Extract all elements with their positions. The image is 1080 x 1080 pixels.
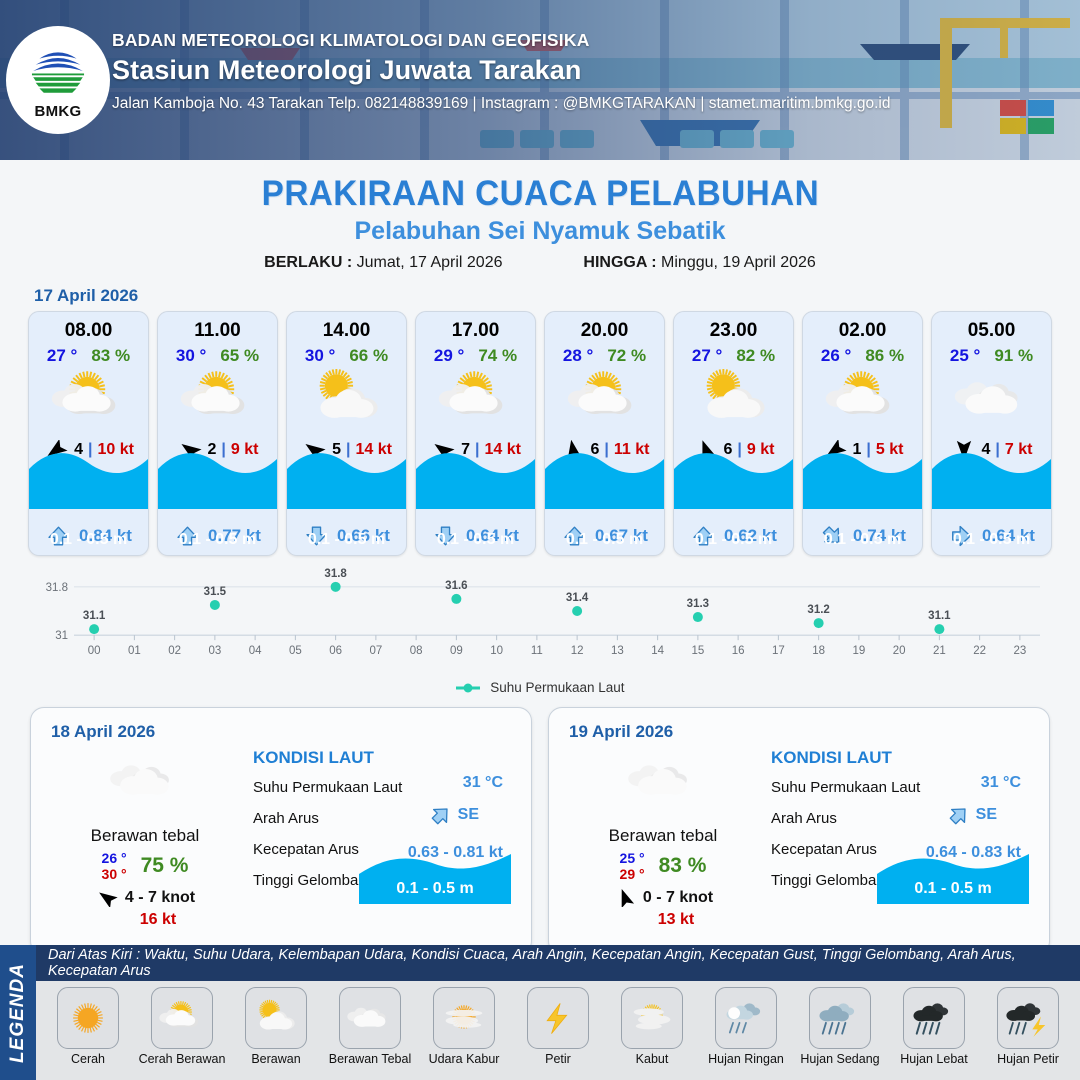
forecast-day-label: 17 April 2026 [34, 286, 1080, 306]
legend-item: Berawan [232, 987, 320, 1080]
svg-text:01: 01 [128, 645, 141, 657]
legend-item-label: Kabut [636, 1052, 669, 1066]
svg-text:00: 00 [88, 645, 101, 657]
forecast-time: 08.00 [29, 320, 148, 342]
panel-sea-conditions: KONDISI LAUT Suhu Permukaan Laut Arah Ar… [253, 748, 517, 896]
panel-current-direction-icon [946, 804, 972, 826]
legend-item: Kabut [608, 987, 696, 1080]
hingga-label: HINGGA : [583, 254, 656, 271]
svg-text:17: 17 [772, 645, 785, 657]
page-title: PRAKIRAAN CUACA PELABUHAN [261, 174, 818, 214]
forecast-card: 17.00 29 ° 74 % 7 | 14 kt [415, 311, 536, 556]
svg-text:31.5: 31.5 [204, 586, 227, 598]
legend-item: Cerah Berawan [138, 987, 226, 1080]
panel-temp-humidity: 26 ° 30 ° 75 % [45, 850, 245, 882]
forecast-time: 20.00 [545, 320, 664, 342]
legend-item: Hujan Sedang [796, 987, 884, 1080]
forecast-humidity: 86 % [865, 346, 904, 366]
forecast-card: 14.00 30 ° 66 % 5 | 14 kt 0.1 - 0.5 m [286, 311, 407, 556]
panel-humidity: 83 % [659, 854, 707, 878]
svg-text:08: 08 [410, 645, 423, 657]
svg-text:23: 23 [1013, 645, 1026, 657]
svg-text:07: 07 [369, 645, 382, 657]
legend-vertical-bar: LEGENDA [0, 945, 36, 1080]
wave-graphic [287, 447, 406, 509]
wave-graphic [932, 447, 1051, 509]
svg-text:12: 12 [571, 645, 584, 657]
legend-icon-thunderstorm [997, 987, 1059, 1049]
forecast-temperature: 29 ° [434, 346, 464, 366]
bmkg-logo-text: BMKG [34, 103, 81, 120]
legend-item-list: Cerah Cerah Berawan Berawan [36, 981, 1080, 1080]
panel-weather-icon [563, 750, 763, 812]
forecast-card: 02.00 26 ° 86 % 1 | 5 kt [802, 311, 923, 556]
daily-summary-panel: 19 April 2026 Berawan tebal 25 ° 29 ° 83… [548, 707, 1050, 955]
current-direction-value: SE [976, 806, 997, 824]
panel-temp-humidity: 25 ° 29 ° 83 % [563, 850, 763, 882]
chart-legend-marker-icon [455, 682, 481, 694]
chart-canvas: 31.8310001020304050607080910111213141516… [26, 568, 1054, 678]
forecast-humidity: 91 % [994, 346, 1033, 366]
panel-condition-label: Berawan tebal [563, 826, 763, 846]
sea-conditions-title: KONDISI LAUT [253, 748, 517, 768]
forecast-humidity: 72 % [607, 346, 646, 366]
svg-text:10: 10 [490, 645, 503, 657]
sea-row-label: Arah Arus [253, 810, 319, 827]
forecast-time: 05.00 [932, 320, 1051, 342]
berlaku-label: BERLAKU : [264, 254, 352, 271]
sea-surface-temperature-value: 31 °C [463, 774, 503, 792]
legend-icon-moderate-rain [809, 987, 871, 1049]
wave-graphic [803, 447, 922, 509]
weather-condition-icon [674, 368, 793, 430]
forecast-humidity: 83 % [91, 346, 130, 366]
svg-text:03: 03 [208, 645, 221, 657]
legend-item: Cerah [44, 987, 132, 1080]
svg-text:22: 22 [973, 645, 986, 657]
forecast-card: 08.00 27 ° 83 % 4 | 10 kt [28, 311, 149, 556]
forecast-temp-humidity: 30 ° 66 % [287, 346, 406, 366]
svg-text:31.8: 31.8 [46, 582, 68, 594]
svg-text:09: 09 [450, 645, 463, 657]
chart-legend: Suhu Permukaan Laut [0, 680, 1080, 695]
legend-icon-sunny [57, 987, 119, 1049]
legend-item-label: Hujan Lebat [900, 1052, 967, 1066]
legend-item-label: Cerah [71, 1052, 105, 1066]
contact-info: Jalan Kamboja No. 43 Tarakan Telp. 08214… [112, 95, 891, 113]
forecast-time: 17.00 [416, 320, 535, 342]
daily-summary-row: 18 April 2026 Berawan tebal 26 ° 30 ° 75… [0, 695, 1080, 955]
panel-gust-speed: 16 kt [71, 911, 245, 929]
forecast-time: 02.00 [803, 320, 922, 342]
legend-icon-heavy-rain [903, 987, 965, 1049]
forecast-card: 23.00 27 ° 82 % 6 | 9 kt 0.1 - 0.5 m [673, 311, 794, 556]
sea-surface-temperature-value: 31 °C [981, 774, 1021, 792]
svg-text:21: 21 [933, 645, 946, 657]
legend-item-label: Cerah Berawan [139, 1052, 226, 1066]
panel-temp-min: 25 ° [620, 850, 645, 866]
forecast-humidity: 65 % [220, 346, 259, 366]
forecast-time: 14.00 [287, 320, 406, 342]
wave-graphic [674, 447, 793, 509]
panel-condition-label: Berawan tebal [45, 826, 245, 846]
forecast-temp-humidity: 29 ° 74 % [416, 346, 535, 366]
weather-condition-icon [158, 368, 277, 430]
weather-condition-icon [545, 368, 664, 430]
weather-condition-icon [932, 368, 1051, 430]
forecast-temperature: 30 ° [305, 346, 335, 366]
page-header: BMKG BADAN METEOROLOGI KLIMATOLOGI DAN G… [0, 0, 1080, 160]
forecast-temperature: 25 ° [950, 346, 980, 366]
panel-gust-speed: 13 kt [589, 911, 763, 929]
forecast-temp-humidity: 25 ° 91 % [932, 346, 1051, 366]
header-text-block: BADAN METEOROLOGI KLIMATOLOGI DAN GEOFIS… [112, 30, 891, 113]
legend-item: Hujan Petir [984, 987, 1072, 1080]
daily-summary-panel: 18 April 2026 Berawan tebal 26 ° 30 ° 75… [30, 707, 532, 955]
agency-name: BADAN METEOROLOGI KLIMATOLOGI DAN GEOFIS… [112, 30, 891, 51]
legend-icon-fog [621, 987, 683, 1049]
forecast-humidity: 66 % [349, 346, 388, 366]
svg-text:31.1: 31.1 [83, 610, 106, 622]
forecast-temp-humidity: 27 ° 83 % [29, 346, 148, 366]
wave-graphic [158, 447, 277, 509]
legend-icon-mostly-cloudy [245, 987, 307, 1049]
port-name: Pelabuhan Sei Nyamuk Sebatik [0, 217, 1080, 246]
wave-graphic [545, 447, 664, 509]
forecast-temperature: 30 ° [176, 346, 206, 366]
wave-height-value: 0.1 - 0.5 m [158, 531, 277, 549]
weather-condition-icon [416, 368, 535, 430]
wave-height-value: 0.1 - 0.5 m [932, 531, 1051, 549]
legend-item: Hujan Ringan [702, 987, 790, 1080]
weather-condition-icon [803, 368, 922, 430]
svg-text:16: 16 [732, 645, 745, 657]
sea-row-label: Arah Arus [771, 810, 837, 827]
station-name: Stasiun Meteorologi Juwata Tarakan [112, 55, 891, 86]
legend-icon-cloudy [339, 987, 401, 1049]
legend-item-label: Hujan Sedang [800, 1052, 879, 1066]
panel-temp-max: 30 ° [102, 866, 127, 882]
forecast-temp-humidity: 30 ° 65 % [158, 346, 277, 366]
sea-row-label: Kecepatan Arus [771, 841, 877, 858]
svg-text:18: 18 [812, 645, 825, 657]
panel-wind-range: 4 - 7 knot [125, 889, 195, 907]
svg-text:31.2: 31.2 [807, 604, 829, 616]
panel-wave-height-value: 0.1 - 0.5 m [877, 880, 1029, 898]
chart-legend-label: Suhu Permukaan Laut [490, 680, 624, 695]
svg-text:20: 20 [893, 645, 906, 657]
panel-current-direction-icon [428, 804, 454, 826]
sea-row-label: Tinggi Gelombang [253, 872, 375, 889]
svg-text:13: 13 [611, 645, 624, 657]
panel-temp-min: 26 ° [102, 850, 127, 866]
forecast-card-row: 08.00 27 ° 83 % 4 | 10 kt [0, 311, 1080, 556]
legend-item-label: Udara Kabur [429, 1052, 500, 1066]
svg-text:19: 19 [852, 645, 865, 657]
legend-item-label: Petir [545, 1052, 571, 1066]
forecast-temp-humidity: 26 ° 86 % [803, 346, 922, 366]
sea-row-label: Suhu Permukaan Laut [253, 779, 402, 796]
legend-item: Berawan Tebal [326, 987, 414, 1080]
legend-icon-partly-cloudy [151, 987, 213, 1049]
svg-text:11: 11 [531, 645, 543, 657]
forecast-temperature: 28 ° [563, 346, 593, 366]
panel-weather-icon [45, 750, 245, 812]
svg-text:31.6: 31.6 [445, 580, 467, 592]
legend-item-label: Berawan [251, 1052, 300, 1066]
forecast-card: 05.00 25 ° 91 % 4 | 7 kt [931, 311, 1052, 556]
forecast-temperature: 26 ° [821, 346, 851, 366]
sea-conditions-title: KONDISI LAUT [771, 748, 1035, 768]
legend-icon-thunder [527, 987, 589, 1049]
wave-graphic [416, 447, 535, 509]
berlaku-value: Jumat, 17 April 2026 [357, 254, 503, 271]
bmkg-logo: BMKG [6, 26, 110, 134]
current-direction-value-group: SE [428, 804, 479, 826]
svg-text:31: 31 [55, 630, 68, 642]
svg-text:31.1: 31.1 [928, 610, 951, 622]
forecast-temp-humidity: 28 ° 72 % [545, 346, 664, 366]
legend-item: Hujan Lebat [890, 987, 978, 1080]
forecast-humidity: 82 % [736, 346, 775, 366]
svg-text:04: 04 [249, 645, 262, 657]
forecast-humidity: 74 % [478, 346, 517, 366]
wave-height-value: 0.1 - 0.5 m [287, 531, 406, 549]
weather-condition-icon [287, 368, 406, 430]
wave-graphic [29, 447, 148, 509]
svg-text:02: 02 [168, 645, 181, 657]
sea-row-label: Suhu Permukaan Laut [771, 779, 920, 796]
svg-text:15: 15 [691, 645, 704, 657]
panel-wind-direction-icon [613, 889, 637, 907]
legend-icon-light-rain [715, 987, 777, 1049]
panel-wind-info: 4 - 7 knot [45, 889, 245, 907]
sea-row-label: Kecepatan Arus [253, 841, 359, 858]
panel-wave-height-value: 0.1 - 0.5 m [359, 880, 511, 898]
current-direction-value: SE [458, 806, 479, 824]
legend-item-label: Hujan Ringan [708, 1052, 784, 1066]
panel-date: 19 April 2026 [569, 722, 673, 742]
sea-row-label: Tinggi Gelombang [771, 872, 893, 889]
svg-text:05: 05 [289, 645, 302, 657]
panel-date: 18 April 2026 [51, 722, 155, 742]
svg-text:31.3: 31.3 [687, 598, 709, 610]
wave-height-value: 0.1 - 0.5 m [545, 531, 664, 549]
current-direction-value-group: SE [946, 804, 997, 826]
panel-weather-block: Berawan tebal 25 ° 29 ° 83 % 0 - 7 knot … [563, 750, 763, 929]
panel-wind-info: 0 - 7 knot [563, 889, 763, 907]
svg-text:31.4: 31.4 [566, 592, 589, 604]
legend-note: Dari Atas Kiri : Waktu, Suhu Udara, Kele… [36, 945, 1080, 981]
validity-dates: BERLAKU : Jumat, 17 April 2026 HINGGA : … [0, 254, 1080, 272]
wave-height-value: 0.1 - 0.5 m [674, 531, 793, 549]
forecast-temp-humidity: 27 ° 82 % [674, 346, 793, 366]
svg-text:06: 06 [329, 645, 342, 657]
panel-wave-graphic: 0.1 - 0.5 m [877, 848, 1029, 904]
panel-sea-conditions: KONDISI LAUT Suhu Permukaan Laut Arah Ar… [771, 748, 1035, 896]
panel-temp-max: 29 ° [620, 866, 645, 882]
legend-icon-haze [433, 987, 495, 1049]
forecast-temperature: 27 ° [692, 346, 722, 366]
forecast-card: 11.00 30 ° 65 % 2 | 9 kt [157, 311, 278, 556]
legend-item: Petir [514, 987, 602, 1080]
sea-temperature-chart: 31.8310001020304050607080910111213141516… [26, 568, 1054, 678]
forecast-temperature: 27 ° [47, 346, 77, 366]
panel-weather-block: Berawan tebal 26 ° 30 ° 75 % 4 - 7 knot … [45, 750, 245, 929]
weather-condition-icon [29, 368, 148, 430]
legend-item-label: Hujan Petir [997, 1052, 1059, 1066]
svg-text:14: 14 [651, 645, 664, 657]
forecast-time: 23.00 [674, 320, 793, 342]
legend-footer: LEGENDA Dari Atas Kiri : Waktu, Suhu Uda… [0, 945, 1080, 1080]
forecast-card: 20.00 28 ° 72 % 6 | 11 kt [544, 311, 665, 556]
panel-humidity: 75 % [141, 854, 189, 878]
panel-wind-direction-icon [95, 889, 119, 907]
wave-height-value: 0.1 - 0.5 m [29, 531, 148, 549]
legend-vertical-title: LEGENDA [7, 963, 29, 1063]
hingga-value: Minggu, 19 April 2026 [661, 254, 816, 271]
panel-wind-range: 0 - 7 knot [643, 889, 713, 907]
bmkg-logo-mark [27, 40, 89, 102]
wave-height-value: 0.1 - 0.5 m [803, 531, 922, 549]
svg-text:31.8: 31.8 [324, 568, 347, 580]
legend-item: Udara Kabur [420, 987, 508, 1080]
wave-height-value: 0.1 - 0.5 m [416, 531, 535, 549]
legend-item-label: Berawan Tebal [329, 1052, 411, 1066]
forecast-time: 11.00 [158, 320, 277, 342]
title-block: PRAKIRAAN CUACA PELABUHAN Pelabuhan Sei … [0, 160, 1080, 272]
panel-wave-graphic: 0.1 - 0.5 m [359, 848, 511, 904]
